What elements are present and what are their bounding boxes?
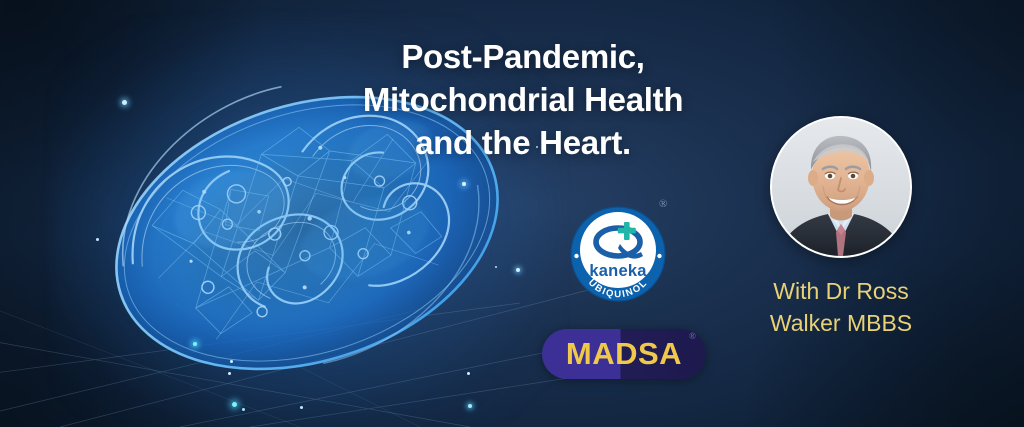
title-line-2: Mitochondrial Health — [330, 79, 716, 122]
presenter-photo — [772, 118, 910, 256]
particle — [516, 268, 520, 272]
kaneka-registered-mark: ® — [659, 198, 667, 210]
particle — [467, 372, 470, 375]
madsa-wordmark: MADSA — [542, 329, 706, 379]
particle — [232, 402, 237, 407]
particle — [242, 408, 245, 411]
kaneka-wordmark: kaneka — [589, 262, 647, 280]
presenter-line-1: With Dr Ross — [730, 276, 952, 308]
madsa-logo: MADSA ® — [542, 329, 706, 379]
particle — [468, 404, 472, 408]
webinar-banner: Post-Pandemic, Mitochondrial Health and … — [0, 0, 1024, 427]
title-line-1: Post-Pandemic, — [330, 36, 716, 79]
kaneka-ubiquinol-logo: kaneka UBIQUINOL ® — [566, 202, 670, 306]
title-line-3: and the Heart. — [330, 122, 716, 165]
kaneka-logo-svg: kaneka UBIQUINOL — [566, 202, 670, 306]
particle — [230, 360, 233, 363]
particle — [96, 238, 99, 241]
presenter-avatar — [770, 116, 912, 258]
presenter-name: With Dr Ross Walker MBBS — [730, 276, 952, 339]
particle — [300, 406, 303, 409]
page-title: Post-Pandemic, Mitochondrial Health and … — [330, 36, 716, 165]
particle — [228, 372, 231, 375]
particle — [462, 182, 466, 186]
particle — [495, 266, 497, 268]
madsa-registered-mark: ® — [689, 331, 696, 341]
particle — [122, 100, 127, 105]
presenter-line-2: Walker MBBS — [730, 308, 952, 340]
particle — [193, 342, 197, 346]
